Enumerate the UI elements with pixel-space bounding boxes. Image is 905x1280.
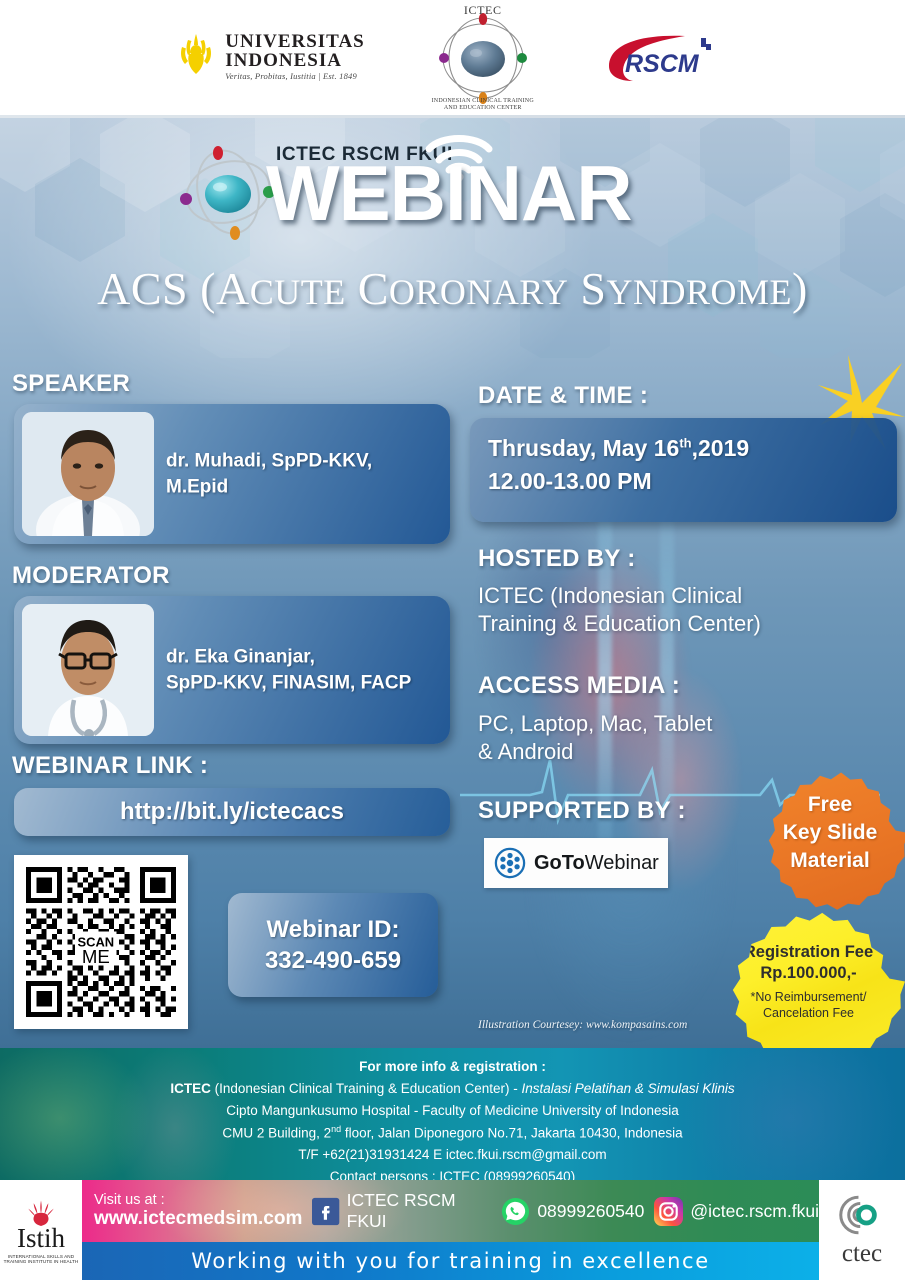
webinar-link-label: WEBINAR LINK : [12, 752, 208, 780]
footer-line5: T/F +62(21)31931424 E ictec.fkui.rscm@gm… [0, 1144, 905, 1166]
free-material-text: Free Key Slide Material [783, 791, 878, 874]
footer-heading: For more info & registration : [0, 1056, 905, 1078]
footer-line2-rest: (Indonesian Clinical Training & Educatio… [211, 1081, 522, 1096]
visit-us-block: Visit us at : www.ictecmedsim.com [94, 1192, 302, 1230]
access-media-label: ACCESS MEDIA : [478, 672, 680, 700]
footer-line4-sup: nd [331, 1124, 341, 1134]
instagram-handle: @ictec.rscm.fkui [690, 1201, 819, 1222]
access-line1: PC, Laptop, Mac, Tablet [478, 710, 898, 738]
supported-by-label: SUPPORTED BY : [478, 797, 686, 825]
footer-line4b: floor, Jalan Diponegoro No.71, Jakarta 1… [341, 1125, 682, 1140]
atom-icon [178, 142, 278, 242]
hosted-by-value: ICTEC (Indonesian Clinical Training & Ed… [478, 582, 898, 638]
footer-contact: For more info & registration : ICTEC (In… [0, 1048, 905, 1180]
access-line2: & Android [478, 738, 898, 766]
hosted-line2: Training & Education Center) [478, 610, 898, 638]
speaker-name-line1: dr. Muhadi, SpPD-KKV, [166, 448, 372, 474]
footer-line6: Contact persons : ICTEC (08999260540) [0, 1166, 905, 1180]
website-url[interactable]: www.ictecmedsim.com [94, 1208, 302, 1229]
registration-fee-label: Registration Fee [744, 942, 873, 963]
free-material-line2: Key Slide [783, 819, 878, 847]
title-p7: ) [792, 263, 808, 314]
webinar-header: ICTEC RSCM FKUI WEBINAR [178, 130, 678, 250]
bottom-bar: Istih INTERNATIONAL SKILLS AND TRAINING … [0, 1180, 905, 1280]
datetime-time-line: 12.00-13.00 PM [488, 465, 897, 498]
page-title: ACS (ACUTE CORONARY SYNDROME) [0, 262, 905, 315]
ictec-subtext: INDONESIAN CLINICAL TRAINING AND EDUCATI… [432, 98, 534, 113]
ictec-wordmark: ICTEC [464, 3, 502, 18]
footer-line4a: CMU 2 Building, 2 [222, 1125, 331, 1140]
ictec-sub-line1: INDONESIAN CLINICAL TRAINING [432, 98, 534, 106]
moderator-label: MODERATOR [12, 562, 170, 590]
access-media-value: PC, Laptop, Mac, Tablet & Android [478, 710, 898, 766]
svg-text:ME: ME [82, 946, 110, 967]
webinar-link-text: http://bit.ly/ictecacs [120, 798, 344, 826]
title-p1: ACS (A [97, 263, 250, 314]
makara-ui-logo-icon [176, 32, 216, 80]
speaker-name-line2: M.Epid [166, 474, 372, 500]
tagline-text: Working with you for training in excelle… [191, 1249, 709, 1273]
registration-note-line1: *No Reimbursement/ [750, 989, 866, 1005]
universitas-indonesia-logo: UNIVERSITAS INDONESIA Veritas, Probitas,… [176, 32, 364, 81]
registration-fee-note: *No Reimbursement/ Cancelation Fee [750, 989, 866, 1021]
webinar-id-box: Webinar ID: 332-490-659 [228, 893, 438, 997]
istih-logo: Istih INTERNATIONAL SKILLS AND TRAINING … [0, 1180, 82, 1280]
top-logo-bar: UNIVERSITAS INDONESIA Veritas, Probitas,… [0, 0, 905, 118]
title-p5: S [568, 263, 606, 314]
datetime-label: DATE & TIME : [478, 382, 648, 410]
istih-subtext: INTERNATIONAL SKILLS AND TRAINING INSTIT… [4, 1254, 79, 1265]
tagline-row: Working with you for training in excelle… [82, 1242, 819, 1280]
speaker-card: dr. Muhadi, SpPD-KKV, M.Epid [14, 404, 450, 544]
free-material-line1: Free [783, 791, 878, 819]
date-ordinal: th [679, 435, 691, 450]
footer-line4: CMU 2 Building, 2nd floor, Jalan Diponeg… [0, 1122, 905, 1144]
instagram-item[interactable]: @ictec.rscm.fkui [654, 1197, 819, 1226]
instagram-icon [654, 1197, 683, 1226]
ictec-atom-logo-icon [427, 3, 539, 113]
moderator-name-line2: SpPD-KKV, FINASIM, FACP [166, 670, 411, 696]
hosted-by-label: HOSTED BY : [478, 545, 636, 573]
moderator-card: dr. Eka Ginanjar, SpPD-KKV, FINASIM, FAC… [14, 596, 450, 744]
ctec-wordmark: ctec [842, 1240, 882, 1268]
title-p2: CUTE [250, 272, 346, 312]
istih-wordmark: Istih [17, 1226, 65, 1252]
gotowebinar-bold: GoTo [534, 852, 585, 874]
whatsapp-icon [501, 1197, 530, 1226]
ctec-logo: ctec [819, 1180, 905, 1280]
svg-text:RSCM: RSCM [625, 50, 700, 78]
ui-tagline: Veritas, Probitas, Iustitia | Est. 1849 [225, 72, 364, 81]
footer-ictec-bold: ICTEC [170, 1081, 211, 1096]
datetime-date-line: Thrusday, May 16th,2019 [488, 432, 897, 465]
facebook-item[interactable]: ICTEC RSCM FKUI [312, 1190, 491, 1232]
date-text: Thrusday, May 16 [488, 435, 679, 461]
illustration-courtesy: Illustration Courtesey: www.kompasains.c… [478, 1019, 687, 1031]
free-material-line3: Material [783, 847, 878, 875]
social-media-row: Visit us at : www.ictecmedsim.com ICTEC … [82, 1180, 819, 1242]
whatsapp-number: 08999260540 [537, 1201, 644, 1222]
title-p3: C [346, 263, 389, 314]
datetime-card: Thrusday, May 16th,2019 12.00-13.00 PM [470, 418, 897, 522]
istih-sub-line2: TRAINING INSTITUTE IN HEALTH [4, 1259, 79, 1265]
gotowebinar-light: Webinar [585, 852, 659, 874]
webinar-poster: UNIVERSITAS INDONESIA Veritas, Probitas,… [0, 0, 905, 1280]
webinar-link-button[interactable]: http://bit.ly/ictecacs [14, 788, 450, 836]
title-p6: YNDROME [607, 272, 793, 312]
gotowebinar-wordmark: GoToWebinar [534, 852, 659, 875]
gotowebinar-logo: GoToWebinar [484, 838, 668, 888]
visit-us-label: Visit us at : [94, 1192, 302, 1208]
facebook-name: ICTEC RSCM FKUI [347, 1190, 492, 1232]
qr-code[interactable]: SCAN ME [14, 855, 188, 1029]
ictec-logo: ICTEC INDONESIAN CLINICAL TRAINING AND E [427, 3, 539, 113]
qr-code-image: SCAN ME [26, 867, 176, 1017]
footer-line3: Cipto Mangunkusumo Hospital - Faculty of… [0, 1100, 905, 1122]
ui-line2: INDONESIA [225, 51, 364, 70]
date-year: ,2019 [692, 435, 750, 461]
ui-line1: UNIVERSITAS [225, 32, 364, 51]
gotowebinar-flower-icon [494, 847, 526, 879]
istih-hand-icon [21, 1195, 61, 1226]
facebook-icon [312, 1197, 339, 1226]
whatsapp-item[interactable]: 08999260540 [501, 1197, 644, 1226]
webinar-id-label: Webinar ID: [267, 914, 400, 945]
footer-line2: ICTEC (Indonesian Clinical Training & Ed… [0, 1078, 905, 1100]
ctec-rings-icon [839, 1192, 885, 1238]
title-p4: ORONARY [389, 272, 569, 312]
webinar-id-value: 332-490-659 [265, 945, 401, 976]
ictec-sub-line2: AND EDUCATION CENTER [432, 105, 534, 113]
webinar-wordmark: WEBINAR [266, 156, 632, 231]
registration-fee-amount: Rp.100.000,- [760, 963, 856, 984]
moderator-name: dr. Eka Ginanjar, SpPD-KKV, FINASIM, FAC… [166, 644, 411, 695]
speaker-label: SPEAKER [12, 370, 130, 398]
rscm-logo: RSCM [601, 30, 729, 84]
hosted-line1: ICTEC (Indonesian Clinical [478, 582, 898, 610]
moderator-avatar [22, 604, 154, 736]
registration-note-line2: Cancelation Fee [750, 1005, 866, 1021]
speaker-avatar [22, 412, 154, 536]
speaker-name: dr. Muhadi, SpPD-KKV, M.Epid [166, 448, 372, 499]
footer-line2-italic: Instalasi Pelatihan & Simulasi Klinis [522, 1081, 735, 1096]
moderator-name-line1: dr. Eka Ginanjar, [166, 644, 411, 670]
